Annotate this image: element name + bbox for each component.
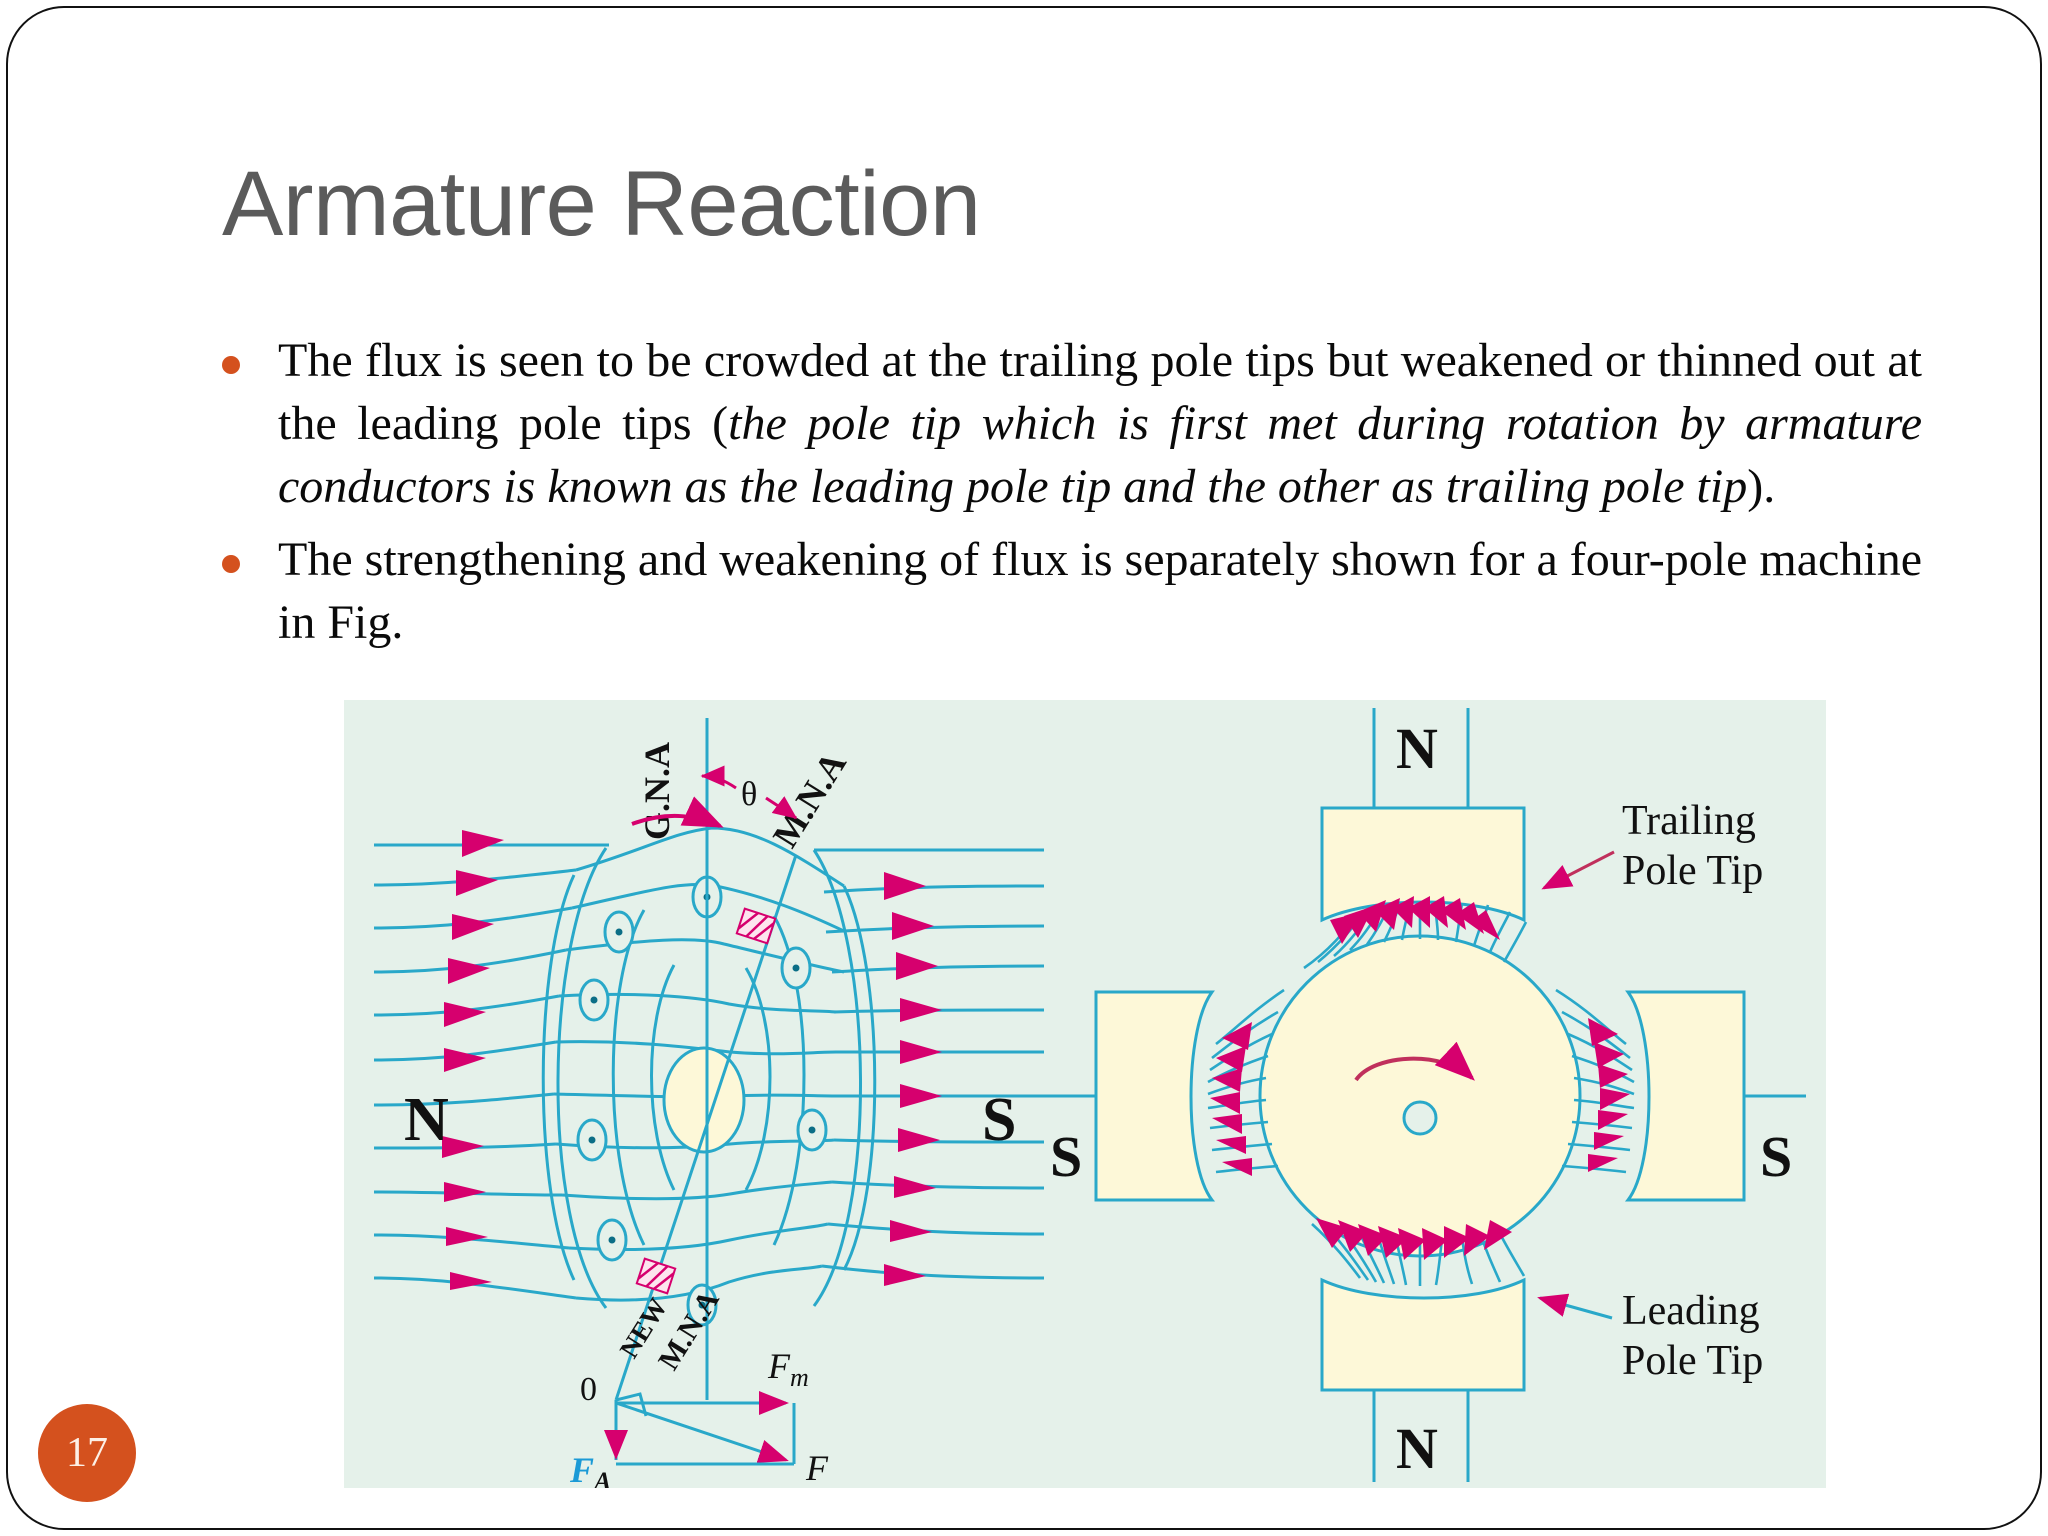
page-number-badge: 17 [38, 1404, 136, 1502]
list-item: The flux is seen to be crowded at the tr… [222, 330, 1922, 519]
figure-svg: N [344, 700, 1826, 1488]
armature-reaction-figure: N [344, 700, 1826, 1488]
trailing-pole-tip-line1: Trailing [1622, 798, 1756, 844]
f-label: F [805, 1448, 829, 1488]
bullet-1-part-2: ). [1747, 460, 1775, 513]
leading-pole-tip-line2: Pole Tip [1622, 1338, 1763, 1384]
left-pole-n-label: N [404, 1086, 449, 1154]
origin-label: 0 [580, 1371, 597, 1408]
page-title: Armature Reaction [222, 158, 981, 250]
bottom-pole-shoe [1322, 1280, 1524, 1390]
leading-pole-tip-line1: Leading [1622, 1288, 1760, 1334]
bullet-text-2: The strengthening and weakening of flux … [278, 529, 1922, 655]
fa-subscript: A [592, 1467, 611, 1488]
armature-shaft [1404, 1102, 1436, 1134]
theta-label: θ [741, 776, 757, 813]
trailing-pole-tip-line2: Pole Tip [1622, 848, 1763, 894]
fm-subscript: m [790, 1363, 809, 1392]
bullet-list: The flux is seen to be crowded at the tr… [222, 330, 1922, 664]
bullet-dot-icon [222, 356, 240, 374]
armature-circle [1260, 936, 1580, 1256]
gna-label: G.N.A [637, 742, 677, 840]
bullet-dot-icon [222, 555, 240, 573]
page-number: 17 [66, 1432, 108, 1474]
slide: Armature Reaction The flux is seen to be… [0, 0, 2048, 1536]
list-item: The strengthening and weakening of flux … [222, 529, 1922, 655]
bullet-text-1: The flux is seen to be crowded at the tr… [278, 330, 1922, 519]
left-pole-s-label: S [1050, 1124, 1082, 1189]
bottom-pole-n-label: N [1396, 1416, 1438, 1481]
fm-label: F [767, 1346, 791, 1386]
right-pole-s-label: S [982, 1086, 1016, 1154]
top-pole-n-label: N [1396, 716, 1438, 781]
right-pole-s-label: S [1760, 1124, 1792, 1189]
bullet-2-part-0: The strengthening and weakening of flux … [278, 533, 1922, 649]
fa-label: F [569, 1450, 594, 1488]
